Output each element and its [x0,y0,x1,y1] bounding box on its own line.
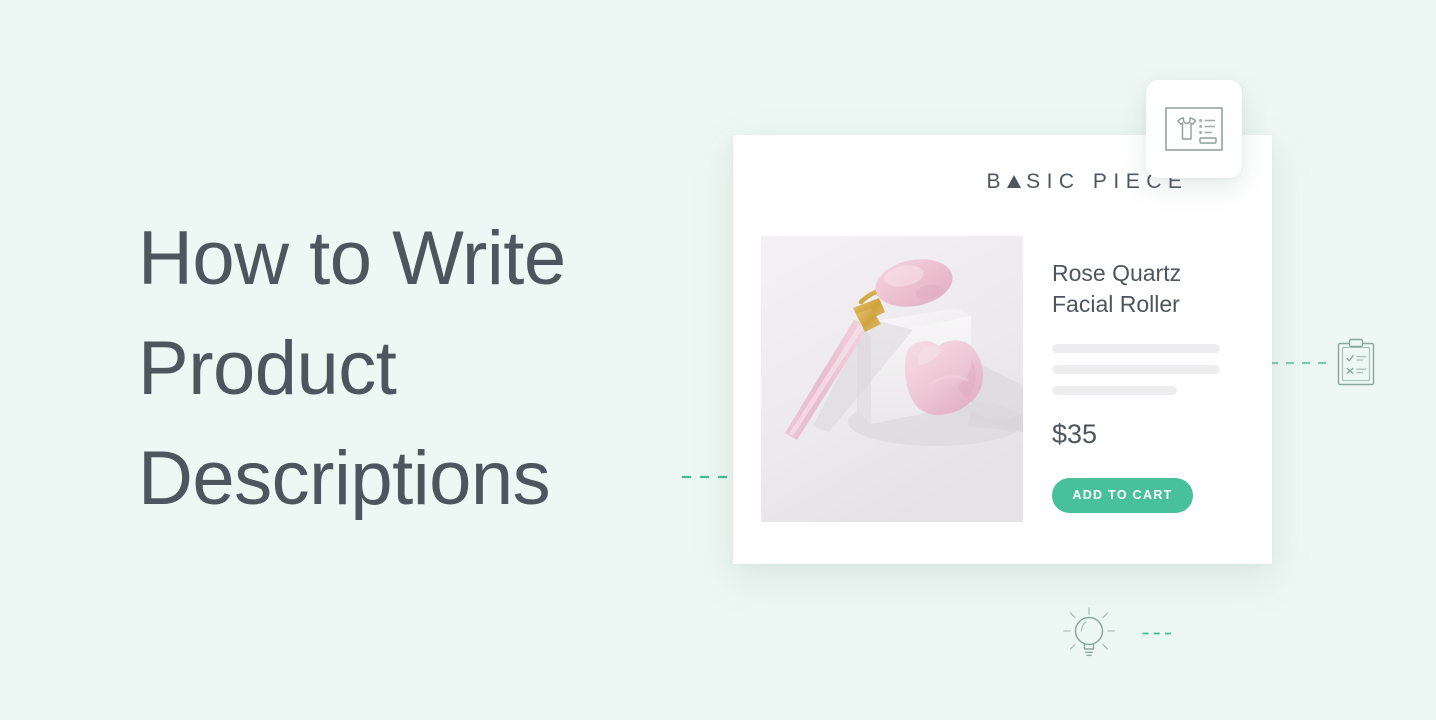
canvas: How to Write Product Descriptions [0,0,1436,720]
placeholder-bar [1052,344,1220,353]
lightbulb-icon [1058,604,1120,666]
page-title: How to Write Product Descriptions [138,204,658,534]
product-image[interactable] [761,236,1023,522]
clipboard-checklist-icon [1336,338,1376,388]
product-price: $35 [1052,419,1252,450]
placeholder-bar [1052,365,1220,374]
product-info: Rose Quartz Facial Roller $35 ADD TO CAR… [1052,258,1252,513]
triangle-up-icon [1007,175,1021,188]
rose-quartz-facial-roller-photo [761,236,1023,522]
placeholder-bar [1052,386,1177,395]
add-to-cart-button[interactable]: ADD TO CART [1052,478,1193,513]
product-card: B SIC PIECE [733,135,1272,564]
description-placeholder [1052,344,1252,395]
product-listing-page-icon [1165,107,1223,151]
tip-annotation-connector [1137,632,1181,635]
product-name: Rose Quartz Facial Roller [1052,258,1252,320]
product-listing-badge[interactable] [1146,80,1242,178]
logo-prefix: B [987,170,1008,194]
